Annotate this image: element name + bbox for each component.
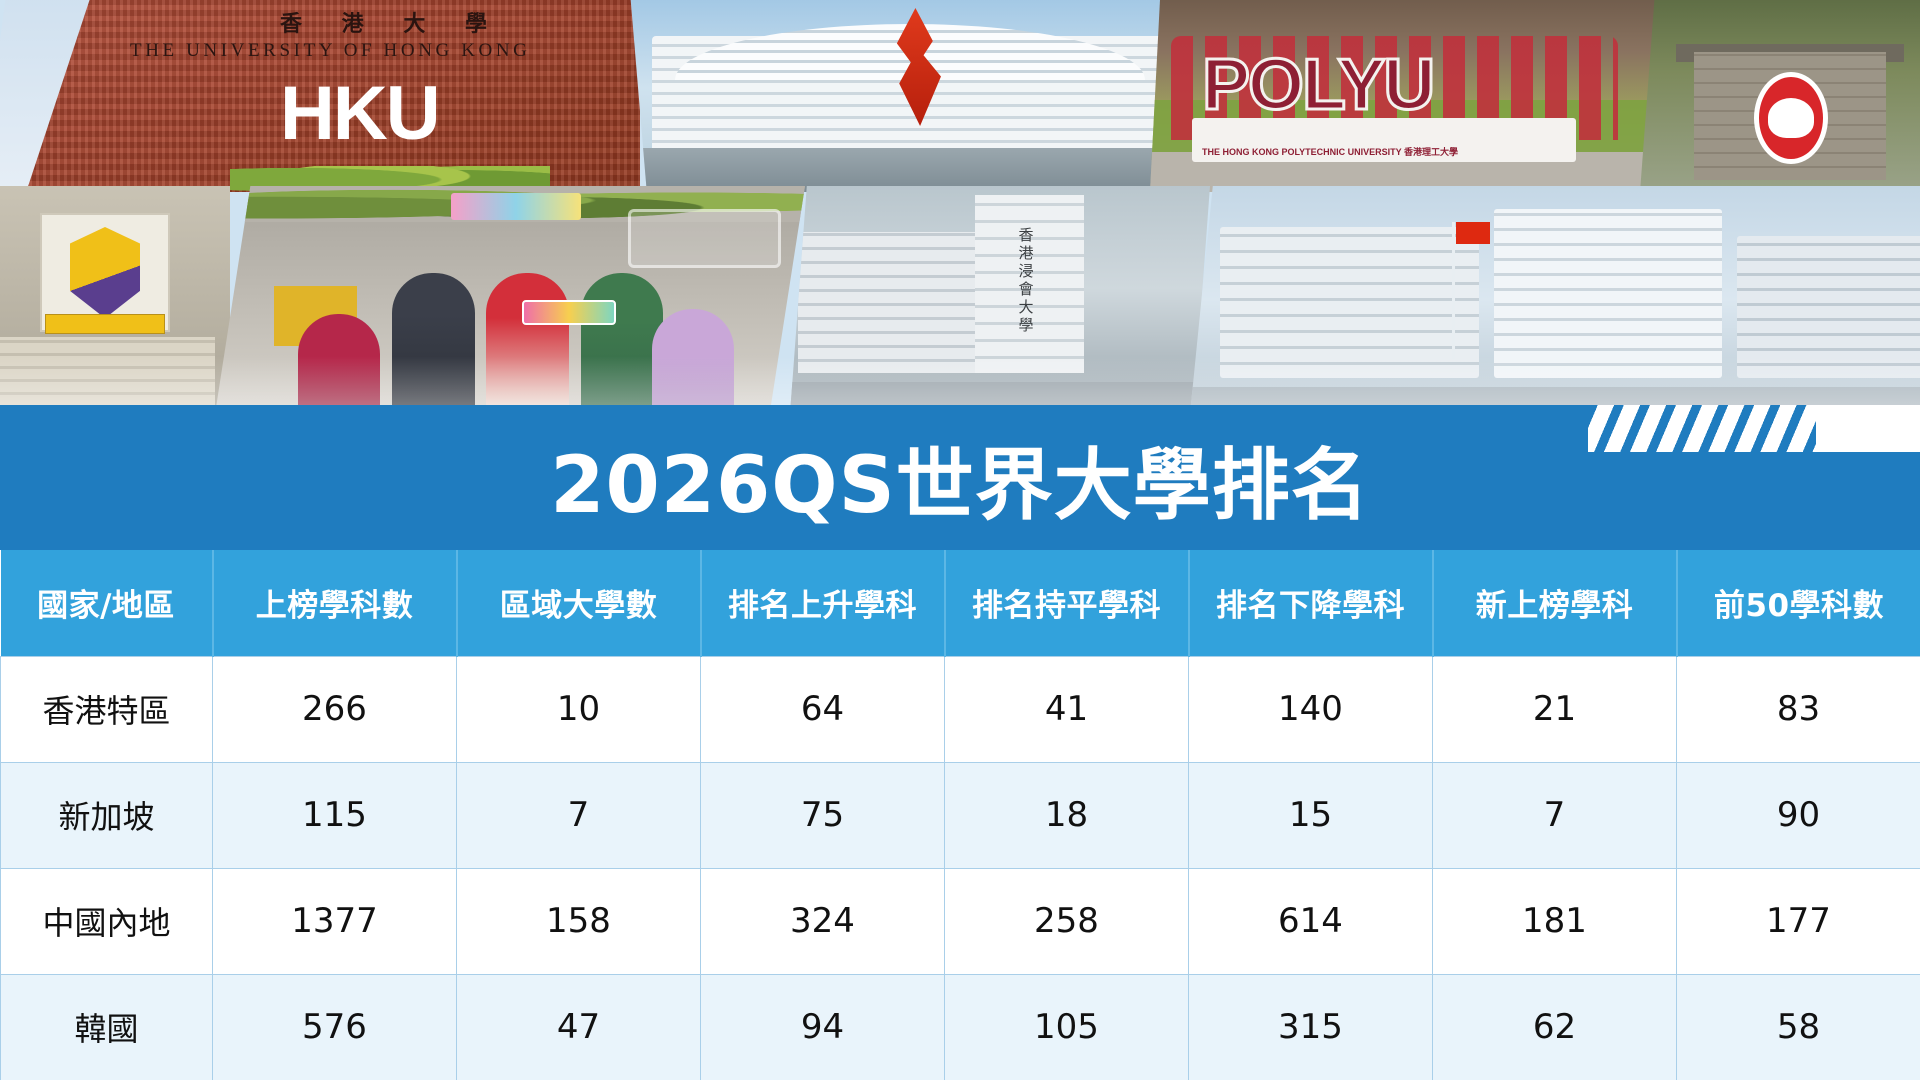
student-exchange-sign [451, 193, 581, 220]
student-figure [652, 309, 735, 405]
cell-newly-listed: 181 [1433, 868, 1677, 974]
title-band: 2026QS世界大學排名 [0, 405, 1920, 550]
cell-region: 中國內地 [1, 868, 213, 974]
cell-newly-listed: 7 [1433, 762, 1677, 868]
hku-english-name: THE UNIVERSITY OF HONG KONG [130, 40, 530, 62]
cell-region: 香港特區 [1, 656, 213, 762]
infographic-page: 香 港 大 學 THE UNIVERSITY OF HONG KONG HKU … [0, 0, 1920, 1080]
table-head: 國家/地區 上榜學科數 區域大學數 排名上升學科 排名持平學科 排名下降學科 新… [1, 550, 1920, 656]
crest-ribbon [45, 314, 165, 335]
ground [1190, 387, 1920, 405]
table-row: 香港特區 266 10 64 41 140 21 83 [1, 656, 1920, 762]
cell-rank-down: 614 [1189, 868, 1433, 974]
hku-campus-photo: 香 港 大 學 THE UNIVERSITY OF HONG KONG HKU [0, 0, 640, 192]
cell-listed-subjects: 1377 [213, 868, 457, 974]
new-students-placard [522, 300, 616, 325]
exchange-students-photo [215, 186, 805, 405]
student-figure [392, 273, 475, 405]
cuhk-crest-photo [0, 186, 230, 405]
diagonal-stripes-decoration [1588, 405, 1920, 452]
cell-rank-up: 94 [701, 974, 945, 1080]
polyu-caption: THE HONG KONG POLYTECHNIC UNIVERSITY 香港理… [1202, 145, 1458, 158]
ranking-table-container: 國家/地區 上榜學科數 區域大學數 排名上升學科 排名持平學科 排名下降學科 新… [0, 550, 1920, 1080]
ranking-table: 國家/地區 上榜學科數 區域大學數 排名上升學科 排名持平學科 排名下降學科 新… [0, 550, 1920, 1080]
column-header-rank-flat[interactable]: 排名持平學科 [945, 550, 1189, 656]
hkbu-chinese-name: 香港浸會大學 [1017, 227, 1033, 335]
cell-region: 韓國 [1, 974, 213, 1080]
column-header-region[interactable]: 國家/地區 [1, 550, 213, 656]
cell-universities: 158 [457, 868, 701, 974]
ground [790, 382, 1210, 405]
cell-rank-flat: 258 [945, 868, 1189, 974]
cell-rank-down: 140 [1189, 656, 1433, 762]
cell-rank-down: 15 [1189, 762, 1433, 868]
building-block [1737, 236, 1920, 377]
cell-universities: 10 [457, 656, 701, 762]
table-header-row: 國家/地區 上榜學科數 區域大學數 排名上升學科 排名持平學科 排名下降學科 新… [1, 550, 1920, 656]
polyu-students-photo: POLYU THE HONG KONG POLYTECHNIC UNIVERSI… [1150, 0, 1670, 192]
student-figure [298, 314, 381, 405]
cell-universities: 47 [457, 974, 701, 1080]
table-body: 香港特區 266 10 64 41 140 21 83 新加坡 115 7 75… [1, 656, 1920, 1080]
cuhk-building-photo [630, 0, 1190, 192]
cell-top50: 58 [1677, 974, 1920, 1080]
table-row: 新加坡 115 7 75 18 15 7 90 [1, 762, 1920, 868]
column-header-universities[interactable]: 區域大學數 [457, 550, 701, 656]
cell-rank-flat: 105 [945, 974, 1189, 1080]
polyu-wordmark: POLYU [1202, 44, 1433, 126]
cell-rank-up: 64 [701, 656, 945, 762]
hkbu-building-photo: 香港浸會大學 [790, 186, 1210, 405]
cell-rank-flat: 18 [945, 762, 1189, 868]
hku-wordmark: HKU [280, 78, 439, 150]
cityu-campus-photo [1190, 186, 1920, 405]
student-figure [486, 273, 569, 405]
cell-newly-listed: 62 [1433, 974, 1677, 1080]
cell-listed-subjects: 266 [213, 656, 457, 762]
column-header-top50[interactable]: 前50學科數 [1677, 550, 1920, 656]
hong-kong-neon-sign [628, 209, 781, 268]
column-header-listed-subjects[interactable]: 上榜學科數 [213, 550, 457, 656]
table-row: 中國內地 1377 158 324 258 614 181 177 [1, 868, 1920, 974]
flag-pole [1452, 222, 1455, 359]
cell-newly-listed: 21 [1433, 656, 1677, 762]
lingnan-logo-icon [1754, 72, 1828, 164]
cell-rank-up: 75 [701, 762, 945, 868]
concrete-slab [0, 337, 215, 405]
cell-region: 新加坡 [1, 762, 213, 868]
road-foreground [630, 148, 1190, 192]
cell-listed-subjects: 115 [213, 762, 457, 868]
cell-listed-subjects: 576 [213, 974, 457, 1080]
cell-top50: 90 [1677, 762, 1920, 868]
column-header-newly-listed[interactable]: 新上榜學科 [1433, 550, 1677, 656]
university-photo-collage: 香 港 大 學 THE UNIVERSITY OF HONG KONG HKU … [0, 0, 1920, 405]
cell-rank-down: 315 [1189, 974, 1433, 1080]
cell-rank-flat: 41 [945, 656, 1189, 762]
cell-universities: 7 [457, 762, 701, 868]
left-wing [798, 232, 974, 373]
cell-top50: 83 [1677, 656, 1920, 762]
table-row: 韓國 576 47 94 105 315 62 58 [1, 974, 1920, 1080]
lingnan-gate-photo [1640, 0, 1920, 192]
hku-chinese-name: 香 港 大 學 [280, 6, 503, 38]
building-block [1494, 209, 1722, 378]
column-header-rank-down[interactable]: 排名下降學科 [1189, 550, 1433, 656]
building-block [1220, 227, 1478, 377]
cell-top50: 177 [1677, 868, 1920, 974]
column-header-rank-up[interactable]: 排名上升學科 [701, 550, 945, 656]
cell-rank-up: 324 [701, 868, 945, 974]
china-flag-icon [1456, 222, 1490, 244]
